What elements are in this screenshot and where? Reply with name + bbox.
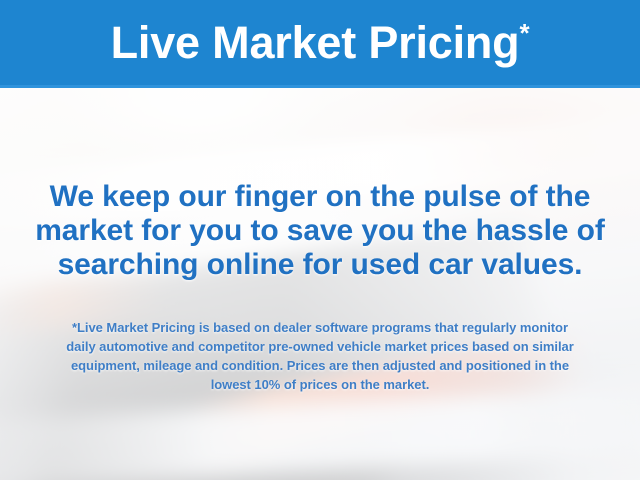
disclaimer-line-4: lowest 10% of prices on the market. <box>26 375 614 394</box>
headline-line-3: searching online for used car values. <box>26 248 614 282</box>
headline-line-2: market for you to save you the hassle of <box>26 214 614 248</box>
page-title-asterisk: * <box>519 20 529 46</box>
disclaimer: *Live Market Pricing is based on dealer … <box>26 318 614 394</box>
page-title-text: Live Market Pricing <box>111 17 520 69</box>
live-market-pricing-banner: Live Market Pricing* We keep our finger … <box>0 0 640 480</box>
header-underline <box>0 85 640 88</box>
headline-line-1: We keep our finger on the pulse of the <box>26 180 614 214</box>
disclaimer-line-1: *Live Market Pricing is based on dealer … <box>26 318 614 337</box>
page-title: Live Market Pricing* <box>0 0 640 85</box>
disclaimer-line-3: equipment, mileage and condition. Prices… <box>26 356 614 375</box>
headline: We keep our finger on the pulse of the m… <box>26 180 614 282</box>
disclaimer-line-2: daily automotive and competitor pre-owne… <box>26 337 614 356</box>
